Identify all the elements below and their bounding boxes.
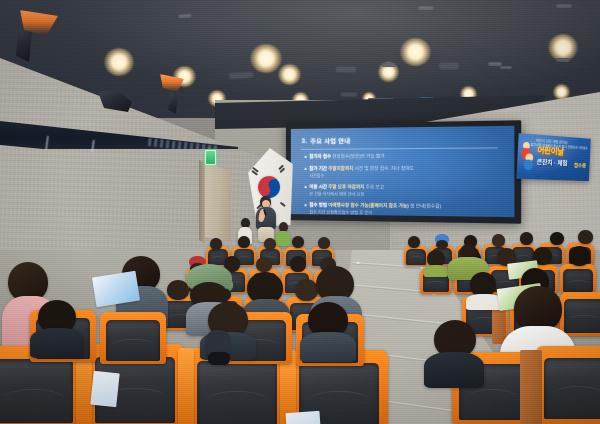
slide-bullet-list: 참가자 접수 현장접수(방문)만 가능 불가 참가 기간 주말지참까지 사전 및… [305,153,506,217]
bullet-dot-icon [305,168,307,170]
door-jamb [199,160,206,244]
audience-person [518,232,536,248]
presenter [255,196,277,242]
ceiling-downlight [278,64,301,85]
ceiling-vent [556,58,570,62]
slide-bullet: 접수 방법 아래행사장 접수 가능(홈페이지 참조 가능) 정 안내(접수율) … [305,202,506,217]
projected-slide: 3. 주요 사업 안내 참가자 접수 현장접수(방문)만 가능 불가 참가 기간 [291,126,515,217]
seat-armrest [178,348,194,424]
auditorium-photo: 3. 주요 사업 안내 참가자 접수 현장접수(방문)만 가능 불가 참가 기간 [0,0,600,424]
handout-paper [285,411,320,424]
audience-person [566,246,594,274]
seat[interactable] [536,346,600,424]
bullet-key: 참가자 접수 [309,154,331,159]
bullet-text: 접수 방법 아래행사장 접수 가능(홈페이지 참조 가능) 정 안내(접수율) … [309,202,441,217]
side-door[interactable] [205,163,231,241]
ceiling-downlight [548,34,578,61]
audience-person [30,300,84,356]
audience-person [576,230,596,247]
audience-leg [206,330,232,366]
bullet-text: 참가자 접수 현장접수(방문)만 가능 불가 [309,153,384,160]
banner-badge: 접수중 [574,162,586,169]
audience-person [548,232,566,248]
ceiling-downlight [104,48,134,76]
banner-sub-text: 큰잔치 · 체험 [537,157,568,168]
slide-bullet: 참가 기간 주말지참까지 사전 및 현장 접수, 자녀 참여도 사전접수 [305,165,506,179]
audience-person [406,236,422,251]
ceiling-vent [382,63,396,67]
step-light [356,262,360,264]
bullet-value: 사전 및 현장 접수, 자녀 참여도 [355,165,414,170]
slide-number: 3. [302,138,308,145]
slide-bullet: 참가자 접수 현장접수(방문)만 가능 불가 [305,153,506,161]
audience-person [490,234,507,249]
bullet-value: 주요 보고 [366,184,384,189]
ceiling-downlight [400,38,431,66]
ceiling-speaker [438,62,460,70]
bullet-highlight: 주말 오후 마감까지 [328,184,364,189]
bullet-subtext: 사전접수 [309,173,414,179]
wall-sconce [160,74,184,92]
bullet-highlight: 주말지참까지 [328,166,353,171]
bullet-dot-icon [305,204,307,206]
ceiling-downlight [378,62,399,82]
bullet-key: 이용 시간 [309,184,327,189]
ceiling-vent [178,14,192,19]
audience-person [424,320,484,386]
bullet-dot-icon [305,156,307,158]
ceiling-vent [556,4,572,8]
ceiling-vent [418,6,434,10]
audience-person [236,236,252,251]
projection-screen: 3. 주요 사업 안내 참가자 접수 현장접수(방문)만 가능 불가 참가 기간 [286,120,521,223]
trigram-icon [280,202,286,207]
seat[interactable] [100,312,166,364]
bullet-text: 이용 시간 주말 오후 마감까지 주요 보고 본 건물 하차에서 예정 안내 요… [309,184,384,198]
audience-person [424,250,448,274]
slide-title: 3. 주요 사업 안내 [302,136,351,146]
bullet-key: 참가 기간 [309,166,327,171]
audience-person [262,238,278,252]
bullet-subtext: 접수 기간 신청확인접수 방법 후 문의 [309,210,441,218]
bullet-highlight: 아래행사장 접수 가능(홈페이지 참조 가능) [328,203,409,209]
bullet-dot-icon [305,186,307,188]
ceiling-downlight [173,66,196,87]
bullet-text: 참가 기간 주말지참까지 사전 및 현장 접수, 자녀 참여도 사전접수 [309,165,414,179]
bullet-value: 현장접수(방문)만 가능 불가 [332,153,384,158]
bullet-subtext: 본 건물 하차에서 예정 안내 요청 [309,191,384,198]
handout-paper [90,371,119,408]
seat-side-panel [520,350,542,424]
audience-person [208,238,224,252]
exit-sign [205,150,216,165]
ceiling-downlight [250,44,282,73]
audience-person [290,236,306,250]
slide-title-text: 주요 사업 안내 [310,136,350,146]
audience-person [288,256,308,276]
assistant-person [276,222,290,246]
slide-title-rule [301,147,498,149]
ceiling-speaker [335,66,357,73]
bullet-value: 정 안내(접수율) [410,203,441,209]
person-torso [276,231,290,246]
ceiling-vent [500,66,512,69]
event-banner: 어린이 안전 체험 한마당 어린이날 큰잔치 · 체험 참가신청 안내문의 접수… [516,133,590,181]
ceiling-speaker [228,71,254,79]
bullet-key: 접수 방법 [309,202,327,207]
ceiling-vent [488,62,502,66]
ceiling-vent [234,72,246,75]
ceiling-speaker [340,92,358,97]
audience-person [316,237,332,251]
audience-person [300,302,356,360]
slide-bullet: 이용 시간 주말 오후 마감까지 주요 보고 본 건물 하차에서 예정 안내 요… [305,184,506,199]
